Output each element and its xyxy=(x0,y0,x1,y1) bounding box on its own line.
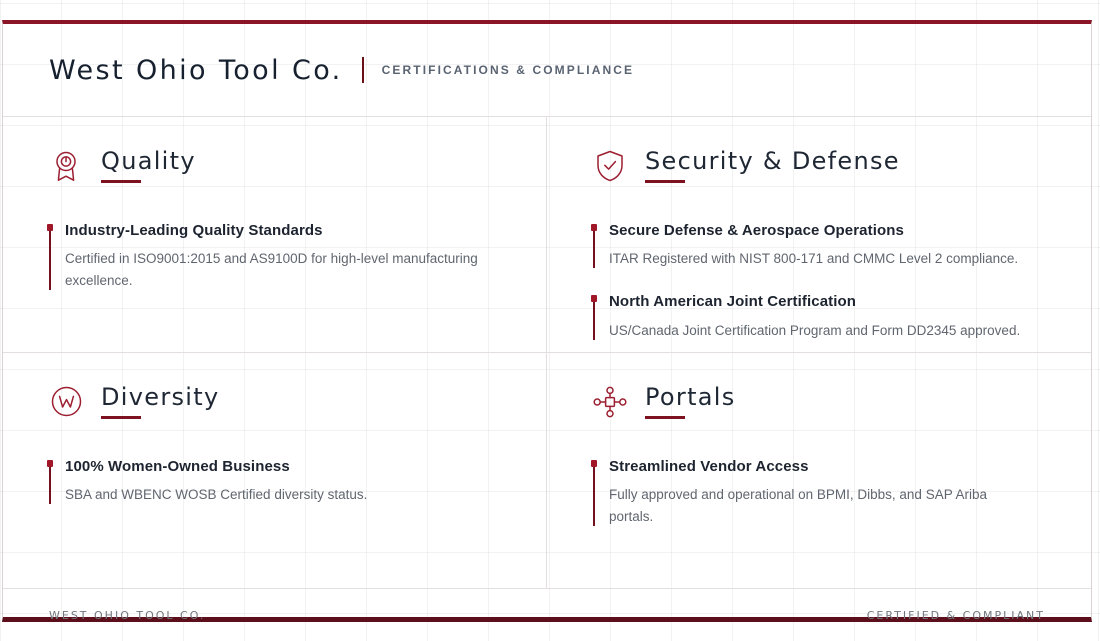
item-title: Streamlined Vendor Access xyxy=(609,457,1045,477)
header-divider xyxy=(362,57,364,83)
section-underline xyxy=(101,416,141,419)
item-accent-bar xyxy=(593,224,595,268)
footer-brand-label: WEST OHIO TOOL CO. xyxy=(49,609,205,622)
section-title: Quality xyxy=(101,147,196,175)
network-hub-icon xyxy=(593,385,627,419)
award-ribbon-icon xyxy=(49,149,83,183)
page-title: West Ohio Tool Co. xyxy=(49,55,343,86)
item-accent-bar xyxy=(593,295,595,339)
item-list: 100% Women-Owned Business SBA and WBENC … xyxy=(49,457,500,506)
item-description: Certified in ISO9001:2015 and AS9100D fo… xyxy=(65,248,485,292)
page-root: West Ohio Tool Co. CERTIFICATIONS & COMP… xyxy=(0,0,1100,641)
item-description: US/Canada Joint Certification Program an… xyxy=(609,320,1029,342)
item-list: Industry-Leading Quality Standards Certi… xyxy=(49,221,500,292)
card-footer: WEST OHIO TOOL CO. CERTIFIED & COMPLIANT xyxy=(3,588,1091,641)
section-heading: Quality xyxy=(49,149,500,183)
certifications-card: West Ohio Tool Co. CERTIFICATIONS & COMP… xyxy=(2,20,1092,622)
card-header: West Ohio Tool Co. CERTIFICATIONS & COMP… xyxy=(3,24,1091,117)
section-title-wrap: Quality xyxy=(101,149,196,183)
section-underline xyxy=(101,180,141,183)
section-heading: Portals xyxy=(593,385,1045,419)
section-quality: Quality Industry-Leading Quality Standar… xyxy=(3,117,547,353)
item-description: ITAR Registered with NIST 800-171 and CM… xyxy=(609,248,1029,270)
item-title: Secure Defense & Aerospace Operations xyxy=(609,221,1045,241)
section-heading: Diversity xyxy=(49,385,500,419)
list-item: North American Joint Certification US/Ca… xyxy=(593,292,1045,341)
circle-w-icon xyxy=(49,385,83,419)
item-title: Industry-Leading Quality Standards xyxy=(65,221,500,241)
list-item: Secure Defense & Aerospace Operations IT… xyxy=(593,221,1045,270)
section-underline xyxy=(645,416,685,419)
section-title: Security & Defense xyxy=(645,147,900,175)
item-description: SBA and WBENC WOSB Certified diversity s… xyxy=(65,484,485,506)
item-title: 100% Women-Owned Business xyxy=(65,457,500,477)
list-item: 100% Women-Owned Business SBA and WBENC … xyxy=(49,457,500,506)
section-heading: Security & Defense xyxy=(593,149,1045,183)
section-title: Portals xyxy=(645,383,736,411)
section-portals: Portals Streamlined Vendor Access Fully … xyxy=(547,353,1091,589)
item-description: Fully approved and operational on BPMI, … xyxy=(609,484,1029,528)
item-accent-bar xyxy=(49,224,51,290)
section-title-wrap: Diversity xyxy=(101,385,219,419)
item-list: Streamlined Vendor Access Fully approved… xyxy=(593,457,1045,528)
footer-status-label: CERTIFIED & COMPLIANT xyxy=(867,609,1045,622)
section-diversity: Diversity 100% Women-Owned Business SBA … xyxy=(3,353,547,589)
list-item: Industry-Leading Quality Standards Certi… xyxy=(49,221,500,292)
shield-check-icon xyxy=(593,149,627,183)
item-list: Secure Defense & Aerospace Operations IT… xyxy=(593,221,1045,342)
list-item: Streamlined Vendor Access Fully approved… xyxy=(593,457,1045,528)
section-title-wrap: Portals xyxy=(645,385,736,419)
section-underline xyxy=(645,180,685,183)
item-accent-bar xyxy=(593,460,595,526)
section-security-defense: Security & Defense Secure Defense & Aero… xyxy=(547,117,1091,353)
item-accent-bar xyxy=(49,460,51,504)
section-title: Diversity xyxy=(101,383,219,411)
item-title: North American Joint Certification xyxy=(609,292,1045,312)
section-title-wrap: Security & Defense xyxy=(645,149,900,183)
header-subtitle: CERTIFICATIONS & COMPLIANCE xyxy=(382,63,634,77)
sections-grid: Quality Industry-Leading Quality Standar… xyxy=(3,117,1091,588)
